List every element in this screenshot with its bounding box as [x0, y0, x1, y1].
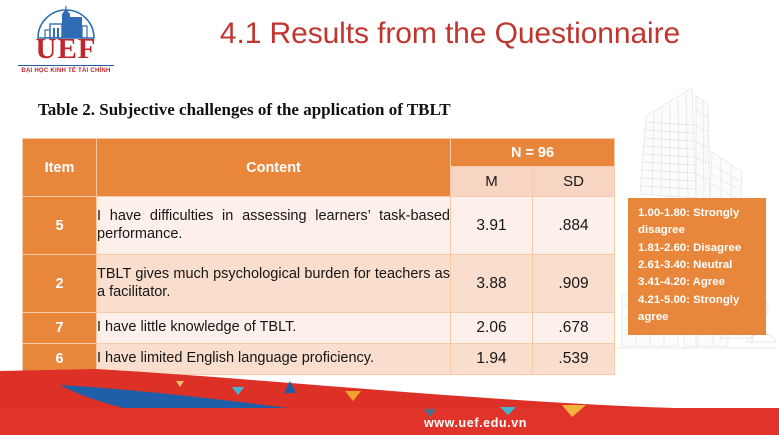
- cell-sd: .539: [533, 344, 615, 375]
- page-title: 4.1 Results from the Questionnaire: [160, 17, 740, 51]
- logo-wordmark: UEF: [14, 35, 118, 64]
- results-table: Item Content N = 96 M SD 5 I have diffic…: [22, 138, 615, 375]
- cell-mean: 3.91: [451, 197, 533, 255]
- footer-url-text: www.uef.edu.vn: [252, 416, 527, 430]
- legend-line: 2.61-3.40: Neutral: [638, 257, 758, 274]
- cell-sd: .909: [533, 255, 615, 313]
- cell-sd: .884: [533, 197, 615, 255]
- header-mean: M: [451, 167, 533, 197]
- cell-item: 2: [23, 255, 97, 313]
- legend-line: 3.41-4.20: Agree: [638, 274, 758, 291]
- cell-item: 5: [23, 197, 97, 255]
- cell-mean: 2.06: [451, 313, 533, 344]
- slide: UEF ĐẠI HỌC KINH TẾ TÀI CHÍNH 4.1 Result…: [0, 0, 779, 435]
- table-header-row-1: Item Content N = 96: [23, 139, 615, 167]
- likert-scale-legend: 1.00-1.80: Strongly disagree 1.81-2.60: …: [628, 198, 766, 335]
- cell-item: 7: [23, 313, 97, 344]
- table-caption: Table 2. Subjective challenges of the ap…: [38, 100, 451, 120]
- cell-item: 6: [23, 344, 97, 375]
- header-sample-size: N = 96: [451, 139, 615, 167]
- logo-divider: [18, 65, 114, 66]
- footer-url: www.uef.edu.vn: [0, 416, 779, 430]
- cell-sd: .678: [533, 313, 615, 344]
- table-row: 5 I have difficulties in assessing learn…: [23, 197, 615, 255]
- logo-subtitle: ĐẠI HỌC KINH TẾ TÀI CHÍNH: [14, 67, 118, 74]
- header-sd: SD: [533, 167, 615, 197]
- cell-content: I have limited English language proficie…: [97, 344, 451, 375]
- cell-mean: 1.94: [451, 344, 533, 375]
- table-row: 7 I have little knowledge of TBLT. 2.06 …: [23, 313, 615, 344]
- table-row: 2 TBLT gives much psychological burden f…: [23, 255, 615, 313]
- header-item: Item: [23, 139, 97, 197]
- legend-line: 1.00-1.80: Strongly disagree: [638, 205, 758, 240]
- cell-content: I have little knowledge of TBLT.: [97, 313, 451, 344]
- legend-line: 1.81-2.60: Disagree: [638, 240, 758, 257]
- cell-content: TBLT gives much psychological burden for…: [97, 255, 451, 313]
- table-row: 6 I have limited English language profic…: [23, 344, 615, 375]
- cell-mean: 3.88: [451, 255, 533, 313]
- header-content: Content: [97, 139, 451, 197]
- uef-logo: UEF ĐẠI HỌC KINH TẾ TÀI CHÍNH: [14, 6, 118, 78]
- results-table-wrapper: Item Content N = 96 M SD 5 I have diffic…: [22, 138, 614, 375]
- cell-content: I have difficulties in assessing learner…: [97, 197, 451, 255]
- legend-line: 4.21-5.00: Strongly agree: [638, 292, 758, 327]
